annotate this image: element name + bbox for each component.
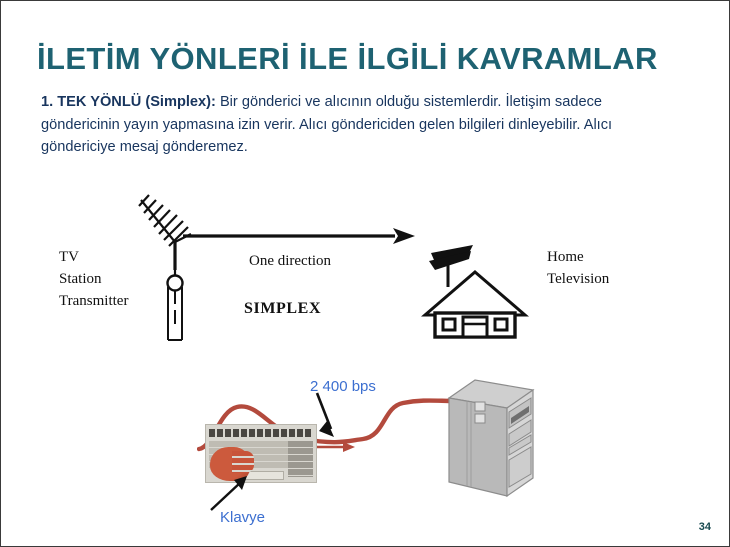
home-television-line-1: Home: [547, 247, 609, 269]
keyboard-device-label: Klavye: [220, 509, 265, 526]
simplex-mode-label: SIMPLEX: [244, 300, 321, 318]
one-direction-label: One direction: [249, 253, 331, 270]
transmitter-line-tv: TV: [59, 247, 128, 269]
keyboard-numpad: [288, 441, 313, 477]
body-paragraph: 1. TEK YÖNLÜ (Simplex): Bir gönderici ve…: [41, 91, 681, 159]
transmitter-line-station: Station: [59, 269, 128, 291]
transmitter-line-transmitter: Transmitter: [59, 291, 128, 313]
typing-hand-fingers: [232, 451, 254, 473]
rate-pointer-arrow-icon: [317, 393, 334, 437]
keyboard-function-row: [209, 429, 313, 437]
computer-tower-icon: [445, 378, 537, 508]
keyboard-pointer-arrow-icon: [209, 476, 255, 512]
home-television-house-icon: [421, 239, 529, 339]
home-television-label: Home Television: [547, 247, 609, 291]
body-lead-label: 1. TEK YÖNLÜ (Simplex):: [41, 94, 216, 110]
keyboard-image: [205, 424, 317, 483]
antenna-hub-icon: [168, 276, 183, 291]
transmitter-antenna-icon: [137, 194, 203, 342]
slide-canvas: İLETİM YÖNLERİ İLE İLGİLİ KAVRAMLAR 1. T…: [0, 0, 730, 547]
transmitter-label: TV Station Transmitter: [59, 247, 128, 312]
page-title: İLETİM YÖNLERİ İLE İLGİLİ KAVRAMLAR: [37, 41, 658, 77]
home-television-line-2: Television: [547, 269, 609, 291]
page-number: 34: [699, 521, 711, 533]
one-direction-arrow-icon: [183, 225, 415, 247]
